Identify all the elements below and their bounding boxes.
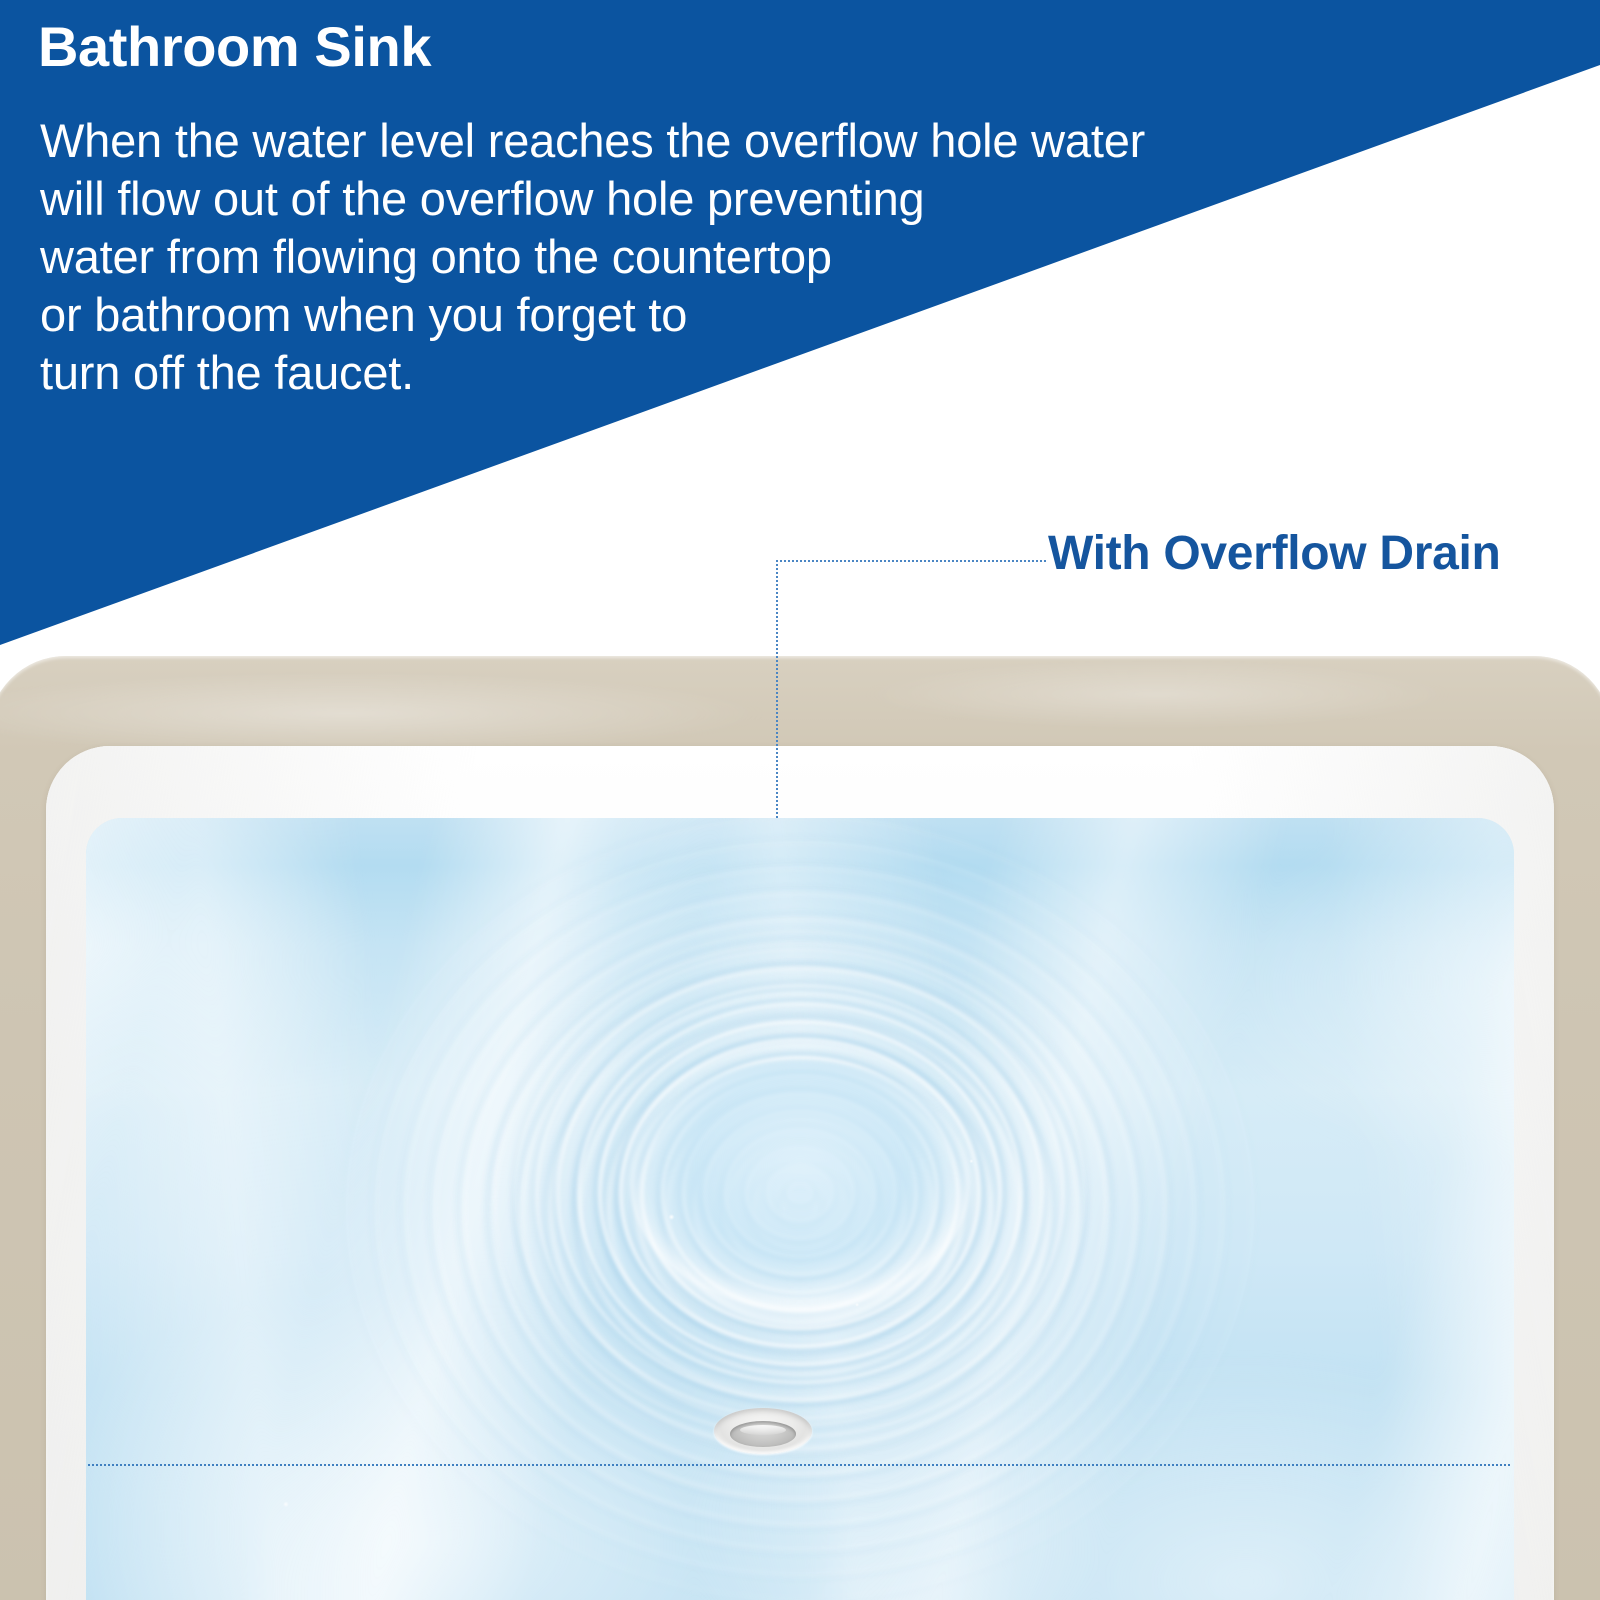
sink-product-photo — [0, 648, 1600, 1600]
infographic-canvas: Bathroom Sink When the water level reach… — [0, 0, 1600, 1600]
callout-label-overflow-drain: With Overflow Drain — [1048, 526, 1501, 581]
water-sparkle-highlights — [86, 818, 1514, 1600]
water-surface — [86, 818, 1514, 1600]
page-title: Bathroom Sink — [38, 18, 431, 77]
callout-leader-horizontal — [776, 560, 1048, 562]
header-description-text: When the water level reaches the overflo… — [40, 112, 1300, 402]
overflow-drain-hole-icon — [714, 1408, 812, 1454]
water-level-indicator-line — [88, 1464, 1512, 1466]
callout-leader-vertical — [776, 560, 778, 818]
